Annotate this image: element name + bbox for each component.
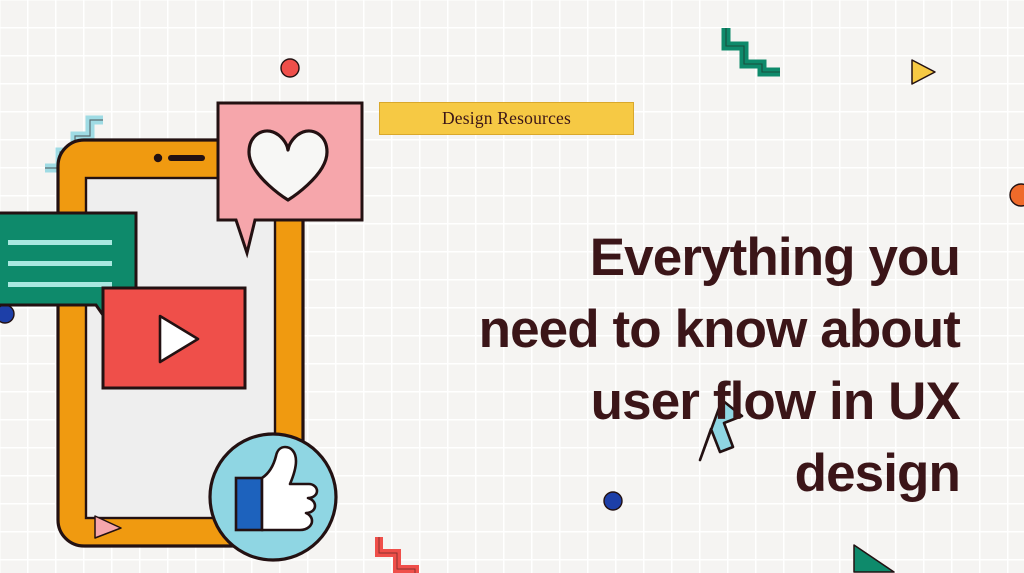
zigzag-red-bottom-icon	[379, 537, 415, 573]
dot-orange-right-icon	[1010, 184, 1024, 206]
zigzag-teal-topright-icon	[726, 28, 780, 72]
speaker-bar-icon	[168, 155, 205, 161]
headline-line-1: Everything you	[330, 222, 960, 294]
headline-line-4: design	[330, 438, 960, 510]
design-resources-badge-label: Design Resources	[442, 108, 571, 129]
triangle-teal-bottomright-icon	[854, 545, 894, 572]
triangle-yellow-topright-icon	[912, 60, 935, 84]
headline-line-2: need to know about	[330, 294, 960, 366]
blog-header-banner: Design Resources Everything you need to …	[0, 0, 1024, 573]
design-resources-badge[interactable]: Design Resources	[379, 102, 634, 135]
page-title: Everything you need to know about user f…	[330, 222, 960, 510]
camera-dot-icon	[154, 154, 162, 162]
dot-red-top-icon	[281, 59, 299, 77]
dot-blue-left-icon	[0, 305, 14, 323]
like-badge	[210, 434, 336, 560]
bubble-line	[8, 282, 112, 287]
bubble-line	[8, 240, 112, 245]
bubble-line	[8, 261, 112, 266]
headline-line-3: user flow in UX	[330, 366, 960, 438]
video-card	[103, 288, 245, 388]
